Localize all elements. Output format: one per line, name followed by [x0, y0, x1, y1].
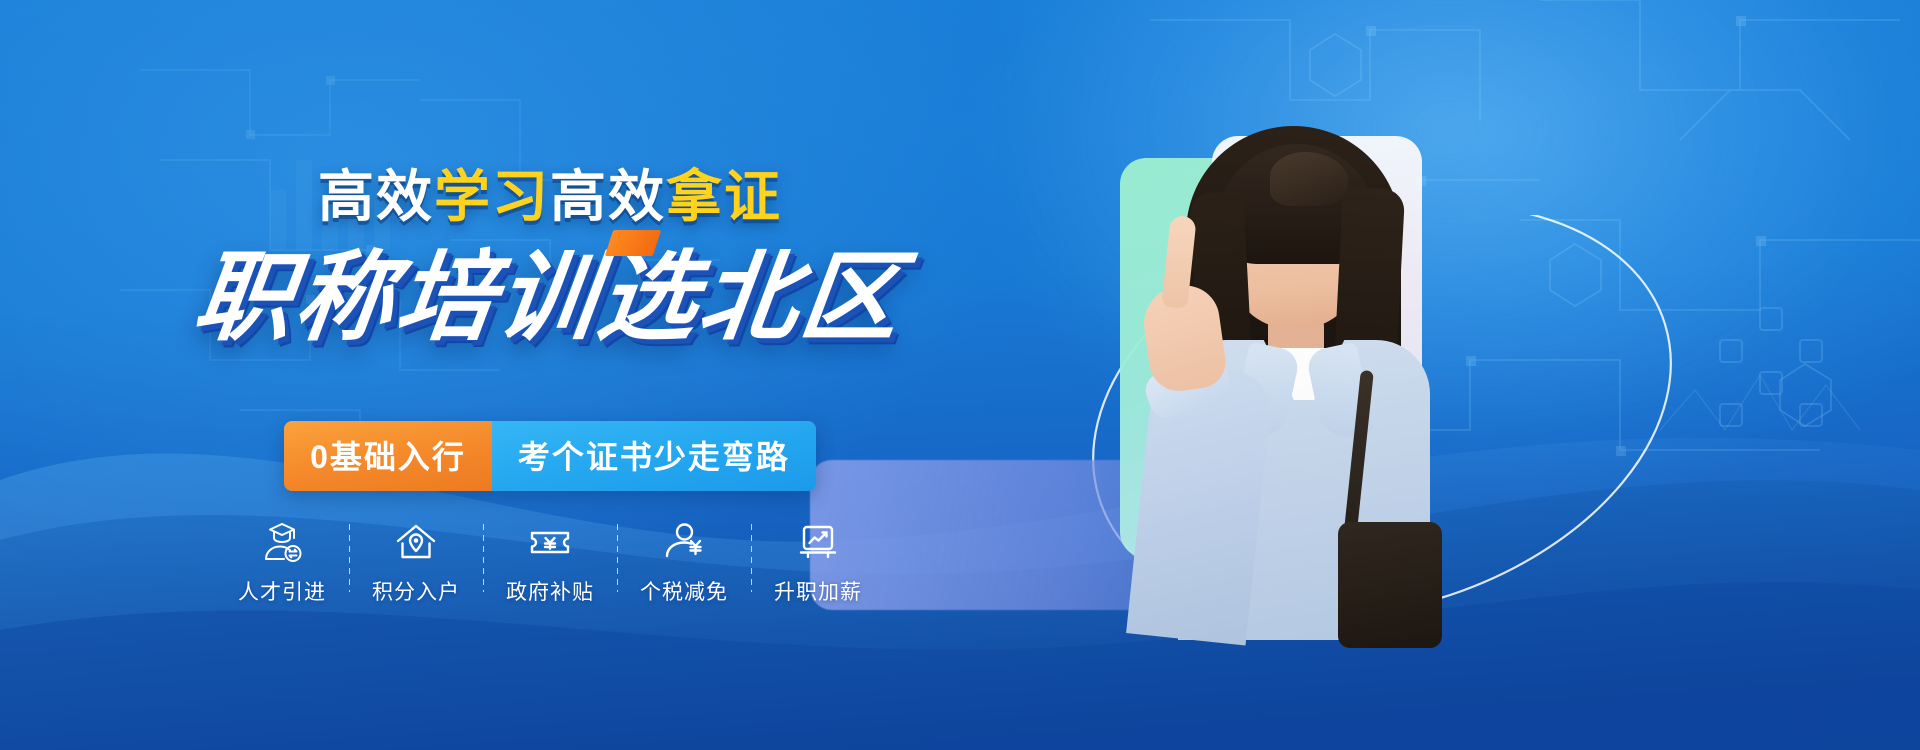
feature-item-household[interactable]: 积分入户 [350, 520, 483, 606]
person-yuan-icon [660, 520, 708, 564]
feature-label: 升职加薪 [774, 576, 862, 606]
feature-label: 政府补贴 [506, 576, 594, 606]
orange-accent-chip [605, 230, 661, 256]
feature-label: 人才引进 [238, 576, 326, 606]
ticket-yuan-icon [526, 520, 574, 564]
feature-item-subsidy[interactable]: 政府补贴 [484, 520, 617, 606]
feature-item-talent[interactable]: 人才引进 [216, 520, 349, 606]
badge-row: 0基础入行 考个证书少走弯路 [0, 421, 1100, 491]
feature-label: 个税减免 [640, 576, 728, 606]
badge-group: 0基础入行 考个证书少走弯路 [284, 421, 816, 491]
banner-content: 高效学习高效拿证 职称培训选北区 0基础入行 考个证书少走弯路 [0, 0, 1100, 750]
shoulder-bag [1338, 522, 1442, 648]
person-figure [1100, 118, 1520, 638]
badge-secondary[interactable]: 考个证书少走弯路 [492, 421, 816, 491]
promo-banner: 高效学习高效拿证 职称培训选北区 0基础入行 考个证书少走弯路 [0, 0, 1920, 750]
main-headline-text: 职称培训选北区 [188, 218, 912, 360]
feature-list: 人才引进 积分入户 [0, 520, 1100, 606]
graduate-person-icon [258, 520, 306, 564]
feature-item-tax[interactable]: 个税减免 [618, 520, 751, 606]
house-pin-icon [392, 520, 440, 564]
chart-board-icon [794, 520, 842, 564]
badge-primary[interactable]: 0基础入行 [284, 421, 492, 491]
feature-label: 积分入户 [372, 576, 460, 606]
main-headline: 职称培训选北区 [0, 218, 1100, 360]
feature-item-promotion[interactable]: 升职加薪 [752, 520, 885, 606]
